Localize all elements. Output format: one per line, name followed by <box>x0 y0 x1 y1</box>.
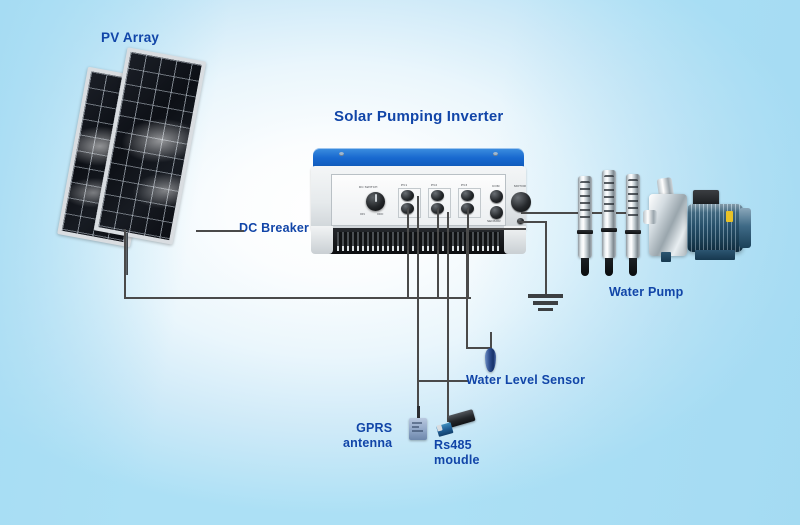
dc-switch-off-label: OFF <box>377 212 384 216</box>
pump-warning-sticker <box>726 211 733 222</box>
motor-port-label: MOTOR <box>514 184 526 188</box>
inverter-title-label: Solar Pumping Inverter <box>334 108 503 126</box>
motor-port-connector[interactable] <box>511 192 531 212</box>
pv1-positive-connector[interactable] <box>401 190 414 201</box>
inverter-screw-left <box>339 152 344 156</box>
pump-casing <box>649 194 687 256</box>
pump-motor-body <box>687 204 743 252</box>
wire-pv2-drop <box>437 208 439 298</box>
rs485-module-device <box>437 416 475 438</box>
pump-motor-fan-cover <box>739 208 751 248</box>
wire-pv1-drop <box>407 208 409 298</box>
inverter-foot-left <box>311 226 333 254</box>
water-level-sensor-label: Water Level Sensor <box>466 373 585 388</box>
gprs-antenna-label: GPRS antenna <box>343 421 392 451</box>
sensor-label: SENSOR <box>487 219 501 223</box>
pump-base-foot <box>661 252 671 262</box>
inverter-screw-right <box>493 152 498 156</box>
pv1-label: PV1 <box>401 183 407 187</box>
pv3-label: PV3 <box>461 183 467 187</box>
dc-switch-label: DC SWITCH <box>359 185 377 189</box>
submersible-pump <box>578 176 592 276</box>
rs485-module-label: Rs485 moudle <box>434 438 480 468</box>
water-pump-label: Water Pump <box>609 285 683 300</box>
wire-sensor-branch-top <box>466 228 526 230</box>
wire-com-to-gprs <box>417 380 469 382</box>
wire-pv-to-bus-vertical <box>124 229 126 299</box>
wire-pe-vertical <box>545 221 547 295</box>
surface-water-pump <box>645 178 755 270</box>
pv-array-label: PV Array <box>101 30 159 46</box>
pv2-label: PV2 <box>431 183 437 187</box>
wire-com-drop <box>417 196 419 382</box>
dc-switch-on-label: ON <box>360 212 365 216</box>
pump-suction-inlet <box>643 210 657 224</box>
submersible-pump <box>602 170 616 276</box>
com-port-connector[interactable] <box>490 190 503 203</box>
water-level-sensor-probe <box>485 348 496 372</box>
inverter-foot-right <box>504 226 526 254</box>
wire-sensor-drop <box>447 212 449 422</box>
pump-base-foot <box>695 250 735 260</box>
sensor-port-connector[interactable] <box>490 206 503 219</box>
rs485-module-body <box>447 409 475 428</box>
submersible-pump <box>626 174 640 276</box>
wire-waterlevel-drop <box>466 228 468 348</box>
com-label: COM <box>492 184 500 188</box>
dc-breaker-label: DC Breaker <box>239 221 309 236</box>
pv2-positive-connector[interactable] <box>431 190 444 201</box>
gprs-antenna-body <box>409 418 427 440</box>
diagram-canvas: PV Array DC Breaker Solar Pumping Invert… <box>0 0 800 525</box>
pv3-positive-connector[interactable] <box>461 190 474 201</box>
wire-dc-breaker-leader <box>196 230 244 232</box>
dc-switch-knob[interactable] <box>366 192 385 211</box>
wire-pe-horizontal <box>518 221 546 223</box>
